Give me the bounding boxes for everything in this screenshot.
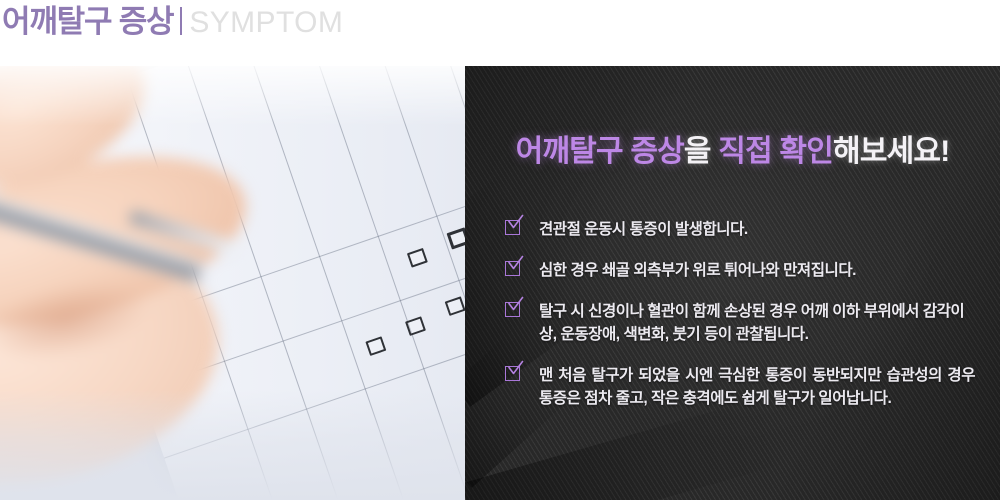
list-item: 심한 경우 쇄골 외측부가 위로 튀어나와 만져집니다. xyxy=(505,259,975,282)
heading-part-4: 해보세요! xyxy=(833,135,949,168)
photo-panel: Yes No M xyxy=(0,66,465,500)
list-item: 맨 처음 탈구가 되었을 시엔 극심한 통증이 동반되지만 습관성의 경우 통증… xyxy=(505,364,975,410)
check-square-icon xyxy=(505,261,522,278)
check-square-icon xyxy=(505,220,522,237)
check-square-icon xyxy=(505,302,522,319)
heading-part-3: 직접 확인 xyxy=(718,135,833,168)
list-item: 견관절 운동시 통증이 발생합니다. xyxy=(505,218,975,241)
panel-fold-shadow xyxy=(465,395,788,500)
content-area: Yes No M 어깨탈구 증상을 직접 확인해보세요! xyxy=(0,66,1000,500)
panel-heading: 어깨탈구 증상을 직접 확인해보세요! xyxy=(465,134,1000,170)
hand-with-pen xyxy=(0,66,350,436)
title-divider xyxy=(180,7,182,35)
list-item-label: 견관절 운동시 통증이 발생합니다. xyxy=(539,218,748,241)
symptom-list: 견관절 운동시 통증이 발생합니다. 심한 경우 쇄골 외측부가 위로 튀어나와… xyxy=(505,218,975,410)
symptom-info-panel: 어깨탈구 증상을 직접 확인해보세요! 견관절 운동시 통증이 발생합니다. xyxy=(465,66,1000,500)
page-title-english: SYMPTOM xyxy=(189,3,343,43)
heading-part-2: 을 xyxy=(684,135,718,168)
heading-part-1: 어깨탈구 증상 xyxy=(516,135,684,168)
page-root: 어깨탈구 증상 SYMPTOM xyxy=(0,0,1000,500)
list-item-label: 심한 경우 쇄골 외측부가 위로 튀어나와 만져집니다. xyxy=(539,259,856,282)
list-item-label: 탈구 시 신경이나 혈관이 함께 손상된 경우 어깨 이하 부위에서 감각이상,… xyxy=(539,300,975,346)
page-header: 어깨탈구 증상 SYMPTOM xyxy=(0,0,1000,66)
page-title-korean: 어깨탈구 증상 xyxy=(2,2,173,42)
list-item-label: 맨 처음 탈구가 되었을 시엔 극심한 통증이 동반되지만 습관성의 경우 통증… xyxy=(539,364,975,410)
check-square-icon xyxy=(505,366,522,383)
list-item: 탈구 시 신경이나 혈관이 함께 손상된 경우 어깨 이하 부위에서 감각이상,… xyxy=(505,300,975,346)
page-title: 어깨탈구 증상 SYMPTOM xyxy=(2,2,343,43)
